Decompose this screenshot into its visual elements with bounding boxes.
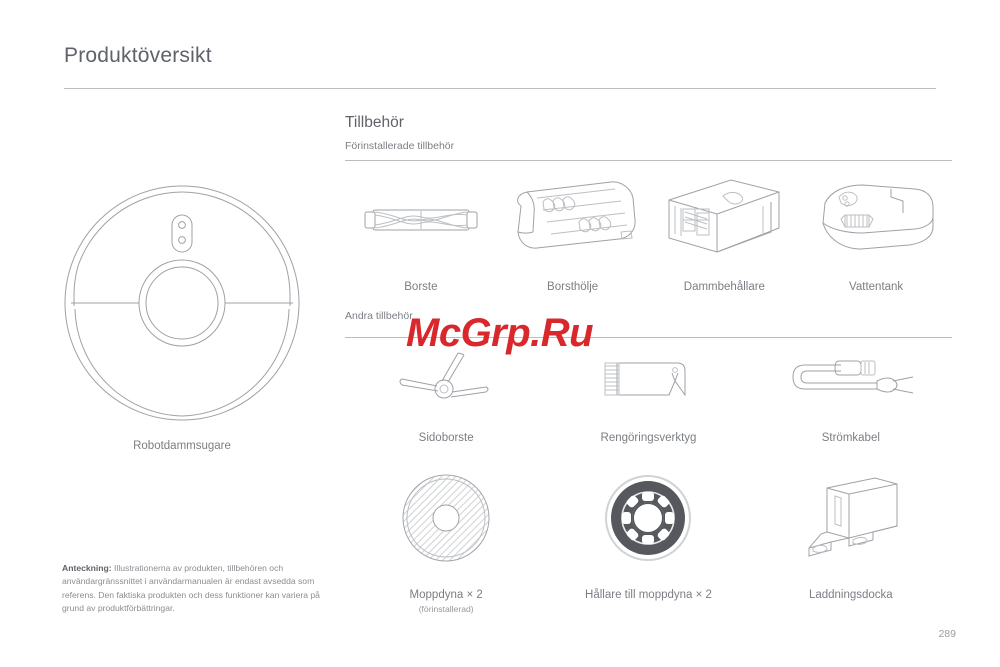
accessories-heading: Tillbehör <box>345 114 404 132</box>
manual-page: Produktöversikt Robotdammsugare Anteckni… <box>0 0 1000 667</box>
accessories-divider-2 <box>345 337 952 338</box>
accessory-item: Dammbehållare <box>649 176 801 294</box>
accessories-row-preinstalled: Borste <box>345 176 952 294</box>
robot-vacuum-label: Robotdammsugare <box>62 440 302 452</box>
accessories-subheading-other: Andra tillbehör <box>345 310 413 322</box>
accessory-label: Vattentank <box>849 280 903 294</box>
brush-cover-icon <box>503 176 643 262</box>
accessory-item: Laddningsdocka <box>750 470 952 614</box>
accessory-sublabel: (förinstallerad) <box>419 604 474 614</box>
accessory-label: Laddningsdocka <box>809 588 893 602</box>
side-brush-icon <box>386 345 506 419</box>
accessory-item: Strömkabel <box>750 345 952 445</box>
accessory-label: Dammbehållare <box>684 280 765 294</box>
accessory-item: Vattentank <box>800 176 952 294</box>
power-cable-icon <box>781 345 921 419</box>
charging-dock-icon <box>791 470 911 566</box>
accessory-item: Sidoborste <box>345 345 547 445</box>
accessory-item: Borsthölje <box>497 176 649 294</box>
accessory-item: Hållare till moppdyna × 2 <box>547 470 749 614</box>
accessories-row-other-1: Sidoborste Rengöringsverktyg <box>345 345 952 445</box>
page-title: Produktöversikt <box>64 44 212 68</box>
title-divider <box>64 88 936 89</box>
accessory-label: Strömkabel <box>822 431 880 445</box>
accessory-label: Sidoborste <box>419 431 474 445</box>
page-number: 289 <box>938 628 956 640</box>
robot-vacuum-icon <box>62 178 302 428</box>
note-label: Anteckning: <box>62 563 112 573</box>
robot-vacuum-illustration <box>62 178 302 428</box>
cleaning-tool-icon <box>593 345 703 419</box>
accessory-label: Borsthölje <box>547 280 598 294</box>
mop-pad-icon <box>398 470 494 566</box>
accessory-label: Moppdyna × 2 <box>410 588 483 602</box>
accessory-item: Moppdyna × 2 (förinstallerad) <box>345 470 547 614</box>
accessories-subheading-preinstalled: Förinstallerade tillbehör <box>345 140 454 152</box>
mop-pad-holder-icon <box>600 470 696 566</box>
water-tank-icon <box>811 176 941 262</box>
accessory-item: Borste <box>345 176 497 294</box>
accessory-label: Rengöringsverktyg <box>601 431 697 445</box>
accessories-row-other-2: Moppdyna × 2 (förinstallerad) <box>345 470 952 614</box>
accessories-divider-1 <box>345 160 952 161</box>
accessory-label: Hållare till moppdyna × 2 <box>585 588 712 602</box>
accessory-label: Borste <box>404 280 437 294</box>
dust-bin-icon <box>659 176 789 262</box>
roller-brush-icon <box>361 176 481 262</box>
accessory-item: Rengöringsverktyg <box>547 345 749 445</box>
note-text: Anteckning: Illustrationerna av produkte… <box>62 562 320 615</box>
